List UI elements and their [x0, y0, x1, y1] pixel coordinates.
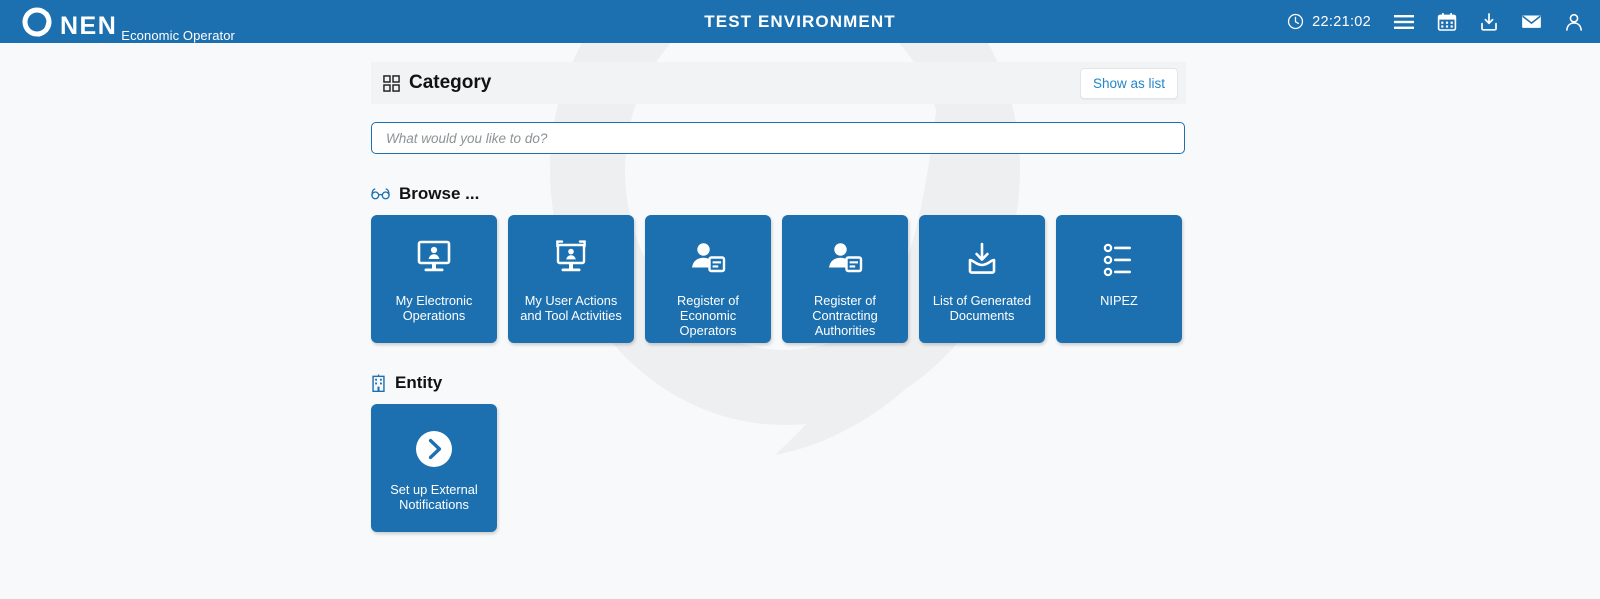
tile-label: NIPEZ [1093, 293, 1145, 308]
clock-time: 22:21:02 [1312, 14, 1371, 30]
browse-tiles: My Electronic Operations [371, 215, 1186, 343]
search-input[interactable] [371, 122, 1185, 154]
mail-envelope-icon[interactable] [1521, 13, 1542, 30]
download-tray-icon [960, 237, 1004, 283]
category-bar: Category Show as list [371, 62, 1186, 104]
tile-list-of-generated-documents[interactable]: List of Generated Documents [919, 215, 1045, 343]
tile-label: Set up External Notifications [371, 482, 497, 512]
glasses-icon [371, 187, 390, 201]
tile-register-of-economic-operators[interactable]: Register of Economic Operators [645, 215, 771, 343]
bullet-list-icon [1097, 237, 1141, 283]
app-header: NEN Economic Operator TEST ENVIRONMENT 2… [0, 0, 1600, 43]
tile-nipez[interactable]: NIPEZ [1056, 215, 1182, 343]
content-panel: Category Show as list Browse ... [371, 62, 1186, 532]
page-title: Category [409, 72, 491, 94]
header-actions: 22:21:02 [1287, 12, 1584, 32]
tile-label: My User Actions and Tool Activities [508, 293, 634, 323]
hamburger-menu-icon[interactable] [1393, 13, 1415, 31]
tile-my-electronic-operations[interactable]: My Electronic Operations [371, 215, 497, 343]
nen-logo-icon [20, 5, 54, 39]
person-card-icon [823, 237, 867, 283]
main-content: Category Show as list Browse ... [0, 62, 1600, 532]
entity-title: Entity [395, 373, 442, 393]
download-inbox-icon[interactable] [1479, 12, 1499, 32]
browse-title: Browse ... [399, 184, 479, 204]
building-icon [371, 374, 386, 392]
tile-set-up-external-notifications[interactable]: Set up External Notifications [371, 404, 497, 532]
tile-register-of-contracting-authorities[interactable]: Register of Contracting Authorities [782, 215, 908, 343]
tile-label: List of Generated Documents [919, 293, 1045, 323]
show-as-list-button[interactable]: Show as list [1080, 68, 1178, 99]
monitor-person-bracket-icon [548, 237, 594, 283]
clock-display: 22:21:02 [1287, 13, 1371, 30]
person-card-icon [686, 237, 730, 283]
calendar-icon[interactable] [1437, 12, 1457, 32]
search-row [371, 122, 1186, 154]
tile-my-user-actions-and-tool-activities[interactable]: My User Actions and Tool Activities [508, 215, 634, 343]
brand-subtitle: Economic Operator [121, 28, 235, 43]
page-root: NEN Economic Operator TEST ENVIRONMENT 2… [0, 0, 1600, 599]
tile-label: Register of Economic Operators [645, 293, 771, 338]
user-profile-icon[interactable] [1564, 12, 1584, 32]
entity-heading: Entity [371, 373, 1186, 393]
monitor-person-icon [411, 237, 457, 283]
clock-icon [1287, 13, 1304, 30]
tile-label: Register of Contracting Authorities [782, 293, 908, 338]
browse-heading: Browse ... [371, 184, 1186, 204]
chevron-right-circle-icon [413, 426, 455, 472]
tile-label: My Electronic Operations [371, 293, 497, 323]
grid-icon [383, 75, 400, 92]
category-heading: Category [383, 72, 491, 94]
entity-tiles: Set up External Notifications [371, 404, 1186, 532]
brand-logo-group[interactable]: NEN Economic Operator [20, 5, 235, 39]
brand-name: NEN [60, 14, 117, 39]
